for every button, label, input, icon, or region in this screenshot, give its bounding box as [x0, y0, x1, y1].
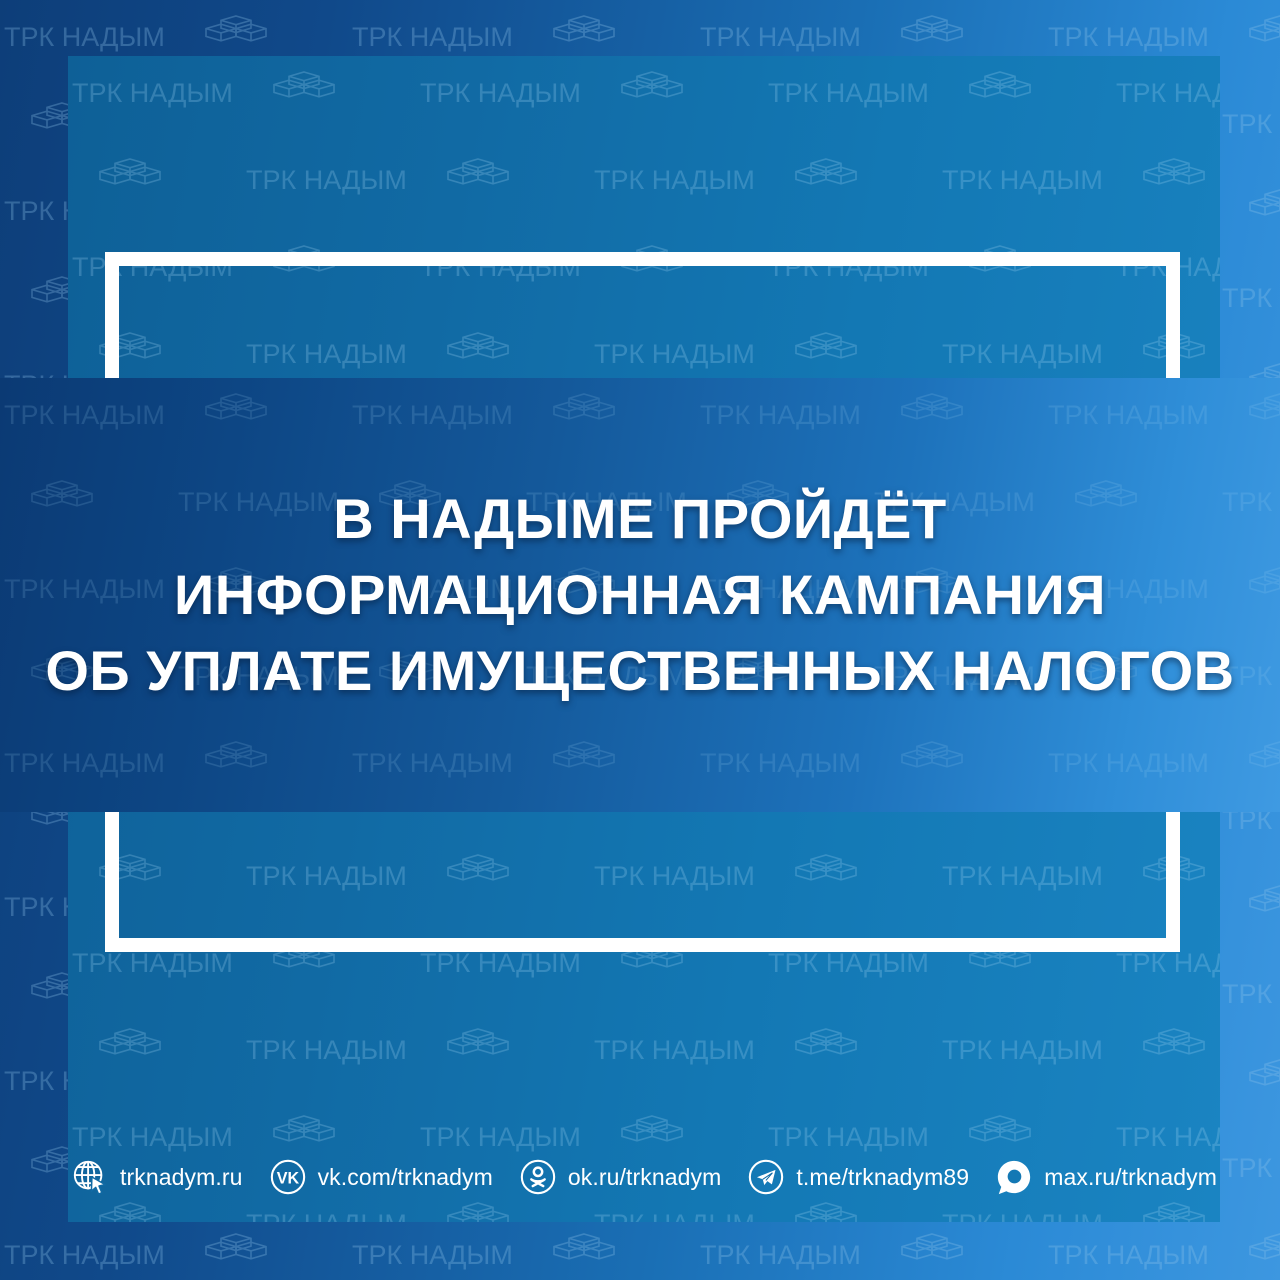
- odnoklassniki-icon: [519, 1158, 557, 1196]
- headline-line-2: ИНФОРМАЦИОННАЯ КАМПАНИЯ: [174, 566, 1106, 624]
- max-messenger-icon: [995, 1158, 1033, 1196]
- headline-line-1: В НАДЫМЕ ПРОЙДЁТ: [333, 490, 946, 548]
- headline-block: В НАДЫМЕ ПРОЙДЁТ ИНФОРМАЦИОННАЯ КАМПАНИЯ…: [0, 378, 1280, 812]
- poster-canvas: В НАДЫМЕ ПРОЙДЁТ ИНФОРМАЦИОННАЯ КАМПАНИЯ…: [0, 0, 1280, 1280]
- globe-cursor-icon: [71, 1158, 109, 1196]
- footer-link-label: max.ru/trknadym: [1044, 1164, 1217, 1191]
- footer-link-ok-ru-trknadym[interactable]: ok.ru/trknadym: [519, 1158, 722, 1196]
- footer-link-max-ru-trknadym[interactable]: max.ru/trknadym: [995, 1158, 1217, 1196]
- footer-link-label: trknadym.ru: [120, 1164, 243, 1191]
- telegram-icon: [747, 1158, 785, 1196]
- headline-line-3: ОБ УПЛАТЕ ИМУЩЕСТВЕННЫХ НАЛОГОВ: [45, 642, 1234, 700]
- footer-link-label: t.me/trknadym89: [796, 1164, 969, 1191]
- vk-icon: VK: [269, 1158, 307, 1196]
- footer-link-label: vk.com/trknadym: [318, 1164, 493, 1191]
- svg-text:VK: VK: [276, 1170, 299, 1188]
- footer-link-t-me-trknadym89[interactable]: t.me/trknadym89: [747, 1158, 969, 1196]
- footer-link-vk-com-trknadym[interactable]: VK vk.com/trknadym: [269, 1158, 493, 1196]
- footer-link-trknadym-ru[interactable]: trknadym.ru: [71, 1158, 243, 1196]
- footer-link-label: ok.ru/trknadym: [568, 1164, 722, 1191]
- footer-social-bar: trknadym.ru VK vk.com/trknadym ok.ru/trk…: [68, 1146, 1220, 1208]
